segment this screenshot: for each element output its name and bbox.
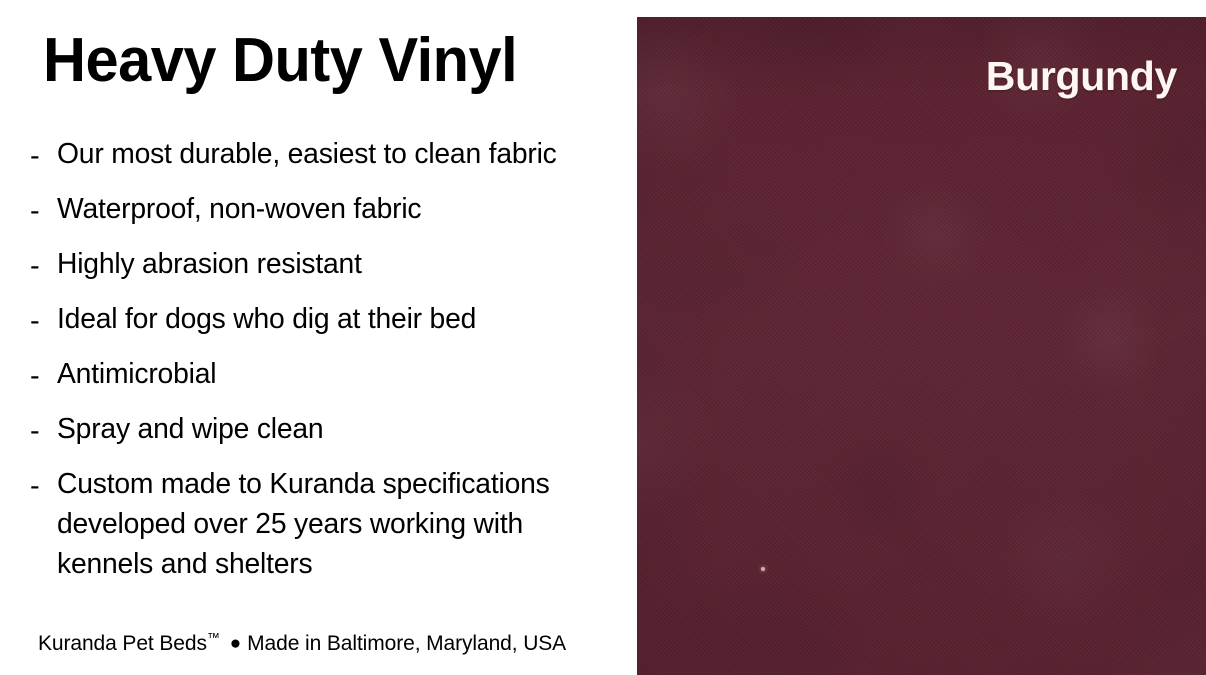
list-item: - Custom made to Kuranda specifications … bbox=[30, 464, 630, 584]
footer-separator-icon: ● bbox=[220, 630, 247, 658]
footer-credit: Kuranda Pet Beds™●Made in Baltimore, Mar… bbox=[38, 630, 566, 658]
feature-list: - Our most durable, easiest to clean fab… bbox=[30, 134, 630, 594]
list-item-label: Highly abrasion resistant bbox=[57, 244, 616, 284]
fabric-weave-texture bbox=[637, 17, 1206, 675]
bullet-dash-icon: - bbox=[30, 354, 57, 399]
list-item-label: Our most durable, easiest to clean fabri… bbox=[57, 134, 616, 174]
bullet-dash-icon: - bbox=[30, 299, 57, 344]
left-content-column: Heavy Duty Vinyl - Our most durable, eas… bbox=[0, 0, 637, 675]
list-item-label: Waterproof, non-woven fabric bbox=[57, 189, 616, 229]
footer-origin: Made in Baltimore, Maryland, USA bbox=[247, 632, 566, 655]
bullet-dash-icon: - bbox=[30, 189, 57, 234]
list-item-label: Antimicrobial bbox=[57, 354, 616, 394]
bullet-dash-icon: - bbox=[30, 409, 57, 454]
fabric-swatch-image: Burgundy bbox=[637, 17, 1206, 675]
color-name-label: Burgundy bbox=[986, 53, 1177, 100]
bullet-dash-icon: - bbox=[30, 464, 57, 509]
list-item: - Highly abrasion resistant bbox=[30, 244, 630, 289]
list-item: - Waterproof, non-woven fabric bbox=[30, 189, 630, 234]
product-slide: Heavy Duty Vinyl - Our most durable, eas… bbox=[0, 0, 1206, 675]
list-item: - Antimicrobial bbox=[30, 354, 630, 399]
footer-brand: Kuranda Pet Beds bbox=[38, 632, 207, 655]
fabric-mottle-texture bbox=[637, 17, 1206, 675]
list-item: - Spray and wipe clean bbox=[30, 409, 630, 454]
list-item: - Ideal for dogs who dig at their bed bbox=[30, 299, 630, 344]
list-item-label: Ideal for dogs who dig at their bed bbox=[57, 299, 616, 339]
fabric-shading-overlay bbox=[637, 17, 1206, 675]
list-item: - Our most durable, easiest to clean fab… bbox=[30, 134, 630, 179]
trademark-icon: ™ bbox=[207, 630, 220, 645]
fabric-speck bbox=[761, 567, 765, 571]
bullet-dash-icon: - bbox=[30, 134, 57, 179]
bullet-dash-icon: - bbox=[30, 244, 57, 289]
page-title: Heavy Duty Vinyl bbox=[43, 28, 517, 93]
list-item-label: Custom made to Kuranda specifications de… bbox=[57, 464, 616, 584]
list-item-label: Spray and wipe clean bbox=[57, 409, 616, 449]
